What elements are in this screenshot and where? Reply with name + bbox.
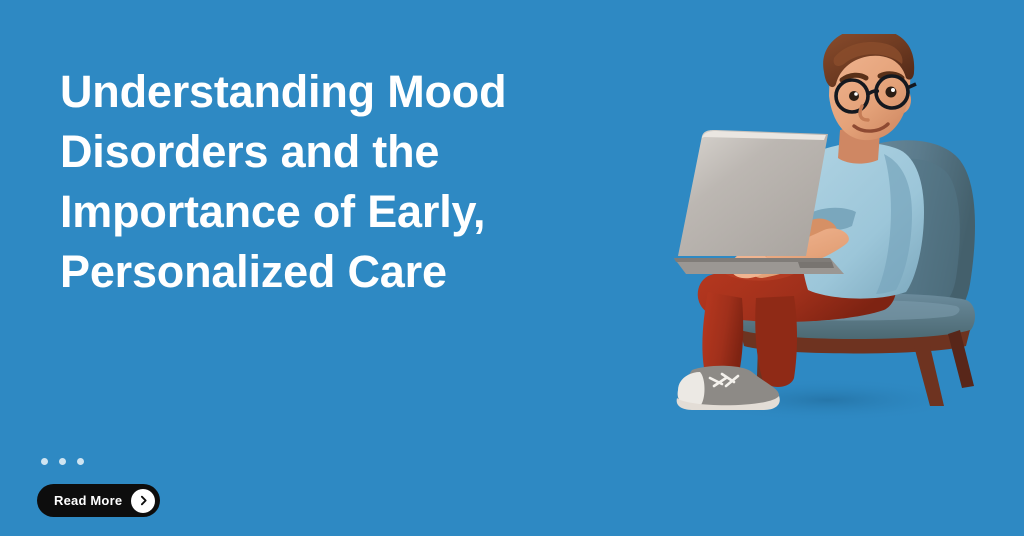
eye-right-glint <box>891 88 895 92</box>
carousel-dot-1[interactable] <box>41 458 48 465</box>
man-with-laptop-in-armchair-illustration <box>648 34 992 426</box>
read-more-button[interactable]: Read More <box>37 484 160 517</box>
blog-banner: Understanding Mood Disorders and the Imp… <box>0 0 1024 536</box>
carousel-dots[interactable] <box>41 458 84 465</box>
chevron-right-icon <box>131 489 155 513</box>
laptop-base-edge <box>674 258 832 262</box>
page-title: Understanding Mood Disorders and the Imp… <box>60 62 600 302</box>
shin-right <box>755 296 797 387</box>
carousel-dot-3[interactable] <box>77 458 84 465</box>
laptop-lid <box>678 130 828 256</box>
carousel-dot-2[interactable] <box>59 458 66 465</box>
read-more-label: Read More <box>54 493 122 508</box>
eye-left <box>849 91 859 101</box>
eye-right <box>886 87 897 98</box>
chair-leg-back-right <box>948 330 974 388</box>
laptop-keyboard-hint <box>798 262 834 268</box>
eye-left-glint <box>854 92 858 96</box>
